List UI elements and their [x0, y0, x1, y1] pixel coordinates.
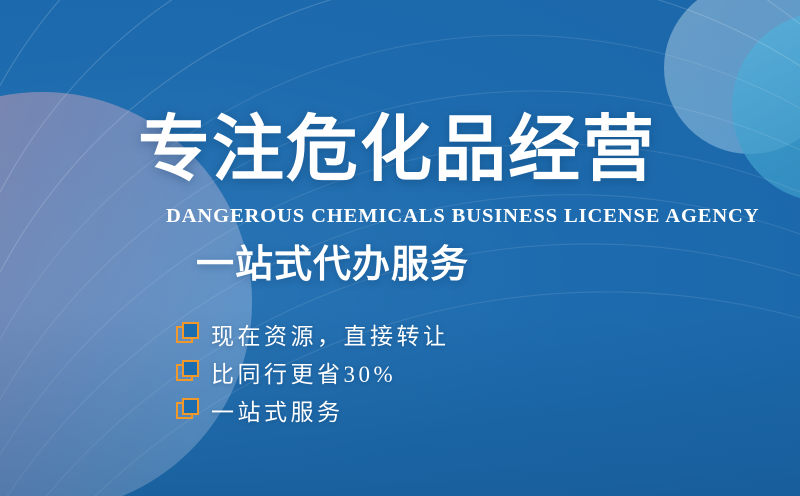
promo-banner: 专注危化品经营 DANGEROUS CHEMICALS BUSINESS LIC…	[0, 0, 800, 496]
overlapping-squares-icon	[176, 360, 200, 384]
english-subtitle: DANGEROUS CHEMICALS BUSINESS LICENSE AGE…	[166, 205, 759, 228]
list-item-label: 现在资源，直接转让	[211, 317, 450, 351]
overlapping-squares-icon	[176, 322, 200, 346]
list-item: 比同行更省30%	[176, 353, 450, 391]
feature-list: 现在资源，直接转让 比同行更省30% 一站式服务	[176, 315, 450, 429]
overlapping-squares-icon	[176, 398, 200, 422]
banner-content: 专注危化品经营 DANGEROUS CHEMICALS BUSINESS LIC…	[0, 0, 800, 496]
list-item: 一站式服务	[176, 391, 450, 429]
list-item-label: 比同行更省30%	[211, 355, 396, 389]
list-item-label: 一站式服务	[211, 393, 344, 427]
list-item: 现在资源，直接转让	[176, 315, 450, 353]
tagline: 一站式代办服务	[196, 245, 469, 283]
page-title: 专注危化品经营	[138, 113, 656, 185]
